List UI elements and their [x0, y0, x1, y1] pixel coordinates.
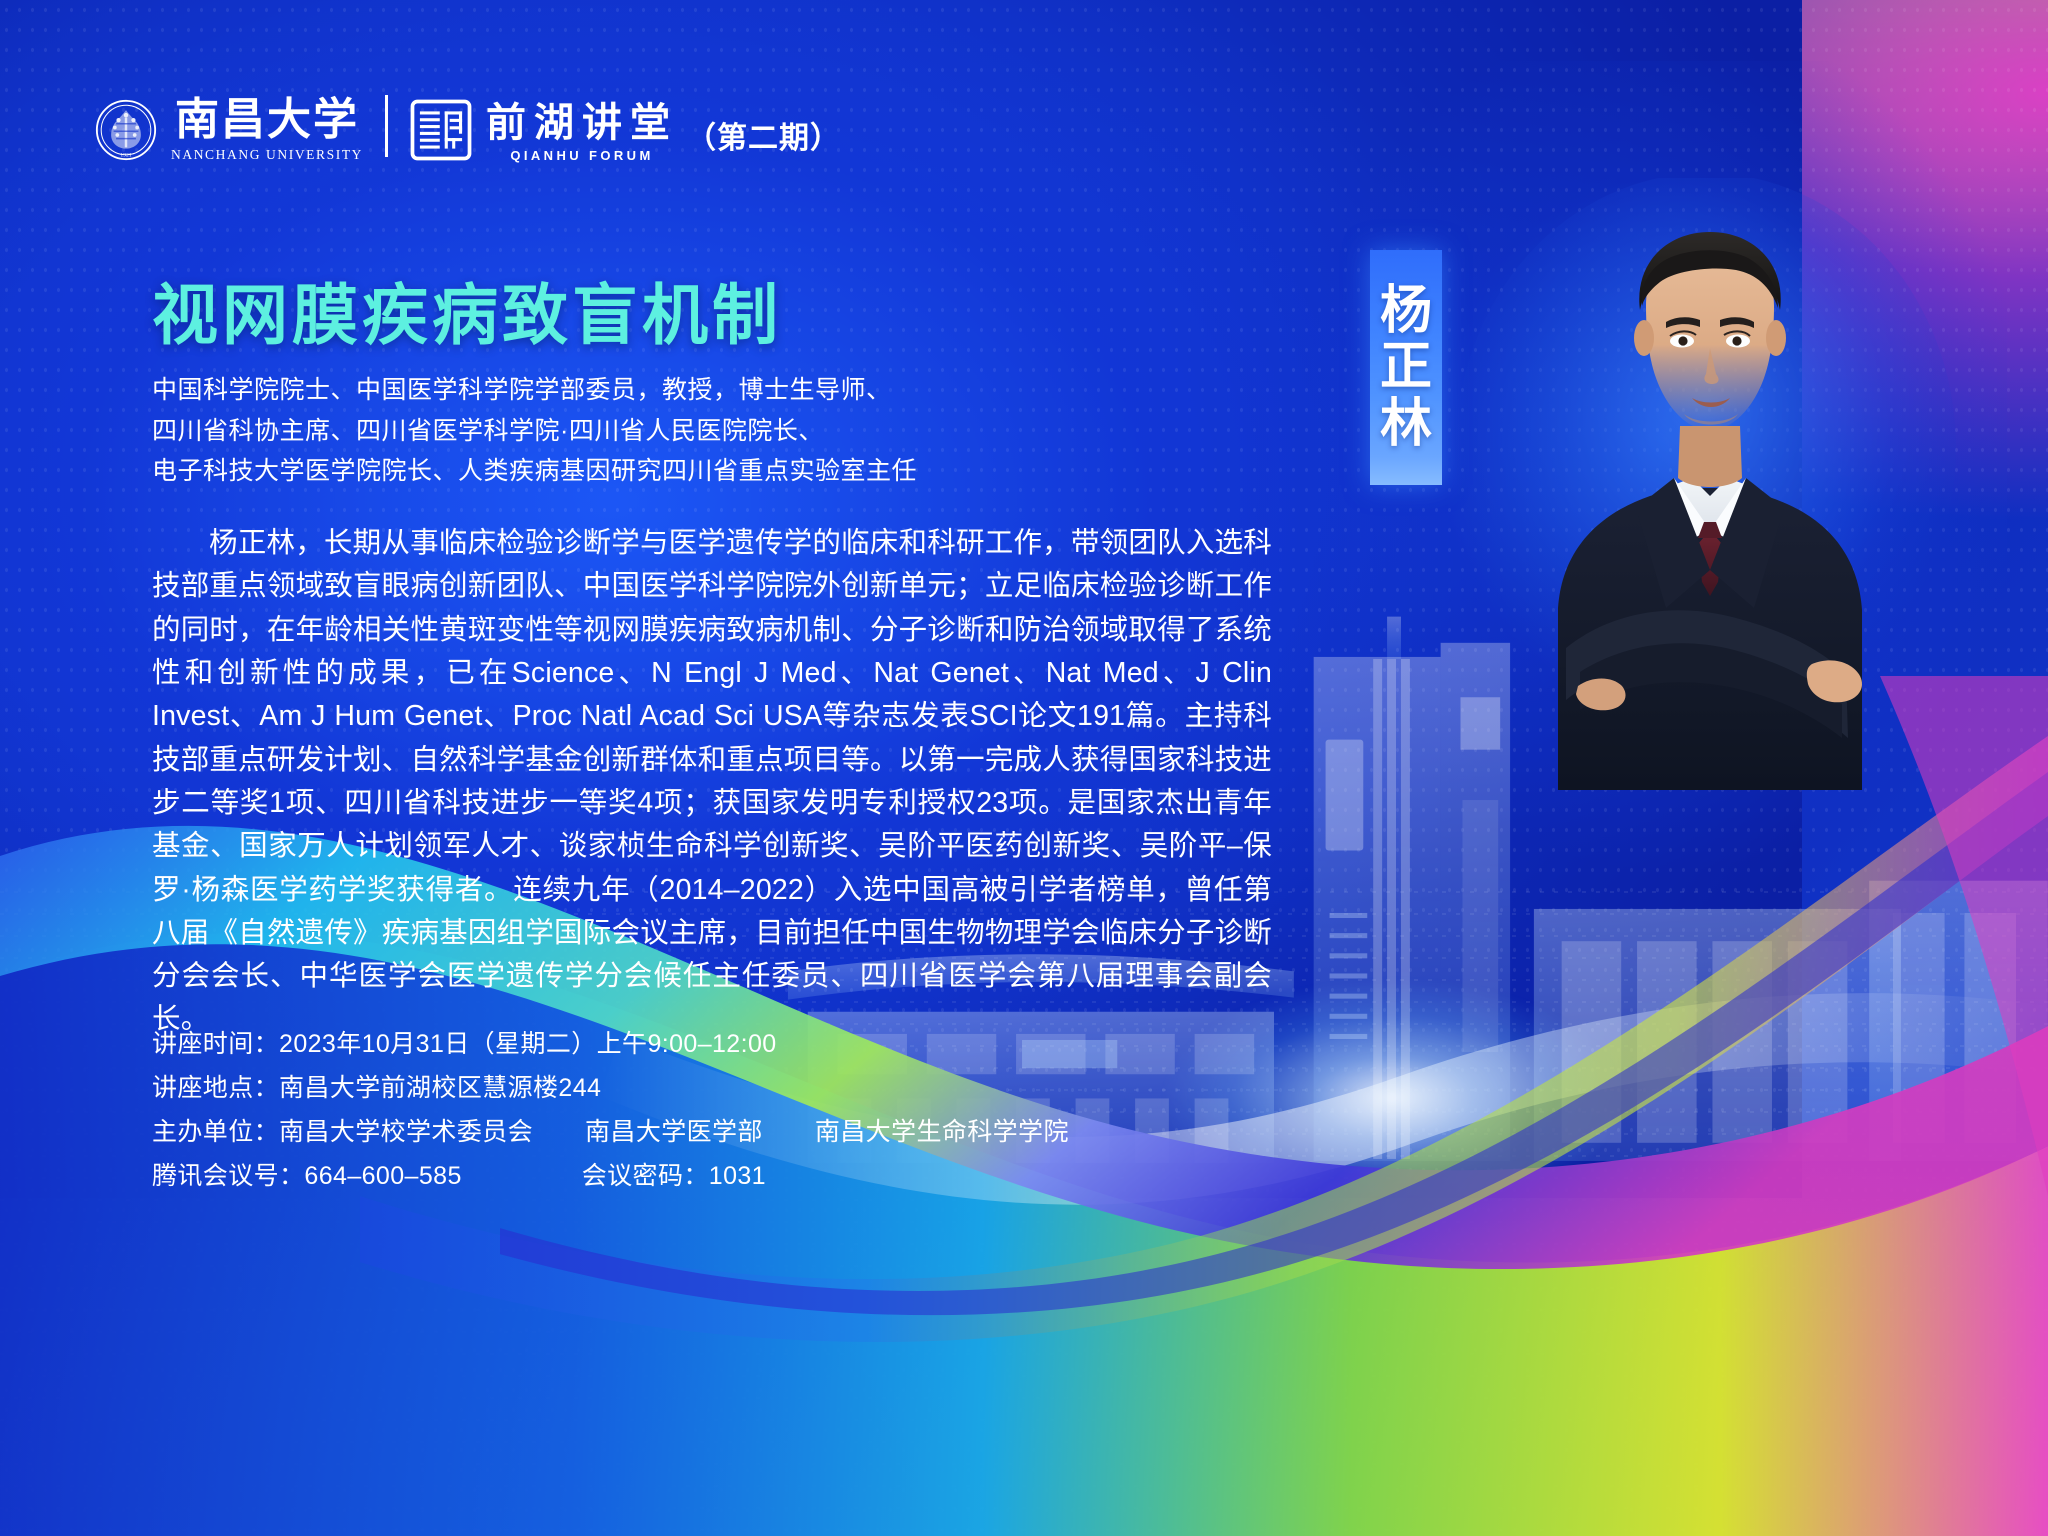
meeting-id-label: 腾讯会议号：	[152, 1162, 304, 1190]
university-name-en: NANCHANG UNIVERSITY	[171, 147, 363, 163]
speaker-credentials: 中国科学院院士、中国医学科学院学部委员，教授，博士生导师、 四川省科协主席、四川…	[152, 370, 917, 492]
svg-text:1921: 1921	[120, 153, 131, 159]
event-time-value: 2023年10月31日（星期二）上午9:00–12:00	[279, 1030, 777, 1058]
speaker-name-char: 杨	[1380, 283, 1432, 339]
meeting-password-value: 1031	[709, 1162, 766, 1190]
forum-name-en: QIANHU FORUM	[510, 148, 653, 163]
poster-canvas: 1921 南昌大学 NANCHANG UNIVERSITY	[0, 0, 2048, 1536]
host-organization: 南昌大学医学部	[585, 1118, 763, 1146]
speaker-name-char: 正	[1380, 339, 1432, 395]
event-time-row: 讲座时间：2023年10月31日（星期二）上午9:00–12:00	[152, 1022, 1069, 1066]
header-divider	[385, 95, 388, 157]
poster-header: 1921 南昌大学 NANCHANG UNIVERSITY	[95, 95, 841, 163]
event-place-row: 讲座地点：南昌大学前湖校区慧源楼244	[152, 1066, 1069, 1110]
page-title: 视网膜疾病致盲机制	[152, 262, 782, 358]
meeting-password-label: 会议密码：	[582, 1162, 709, 1190]
host-organization: 南昌大学校学术委员会	[279, 1118, 533, 1146]
university-wordmark: 南昌大学 NANCHANG UNIVERSITY	[171, 97, 363, 163]
nanchang-university-seal-icon: 1921	[95, 99, 157, 161]
qianhu-forum-seal-icon	[410, 99, 472, 161]
speaker-biography: 杨正林，长期从事临床检验诊断学与医学遗传学的临床和科研工作，带领团队入选科技部重…	[152, 522, 1272, 1042]
credential-line: 四川省科协主席、四川省医学科学院·四川省人民医院院长、	[152, 411, 917, 452]
episode-label: （第二期）	[686, 113, 841, 157]
event-host-row: 主办单位：南昌大学校学术委员会南昌大学医学部南昌大学生命科学学院	[152, 1110, 1069, 1154]
speaker-name-char: 林	[1380, 396, 1432, 452]
event-details: 讲座时间：2023年10月31日（星期二）上午9:00–12:00 讲座地点：南…	[152, 1022, 1069, 1198]
meeting-id-value: 664–600–585	[304, 1162, 461, 1190]
forum-wordmark: 前湖讲堂 QIANHU FORUM	[486, 102, 678, 163]
speaker-portrait	[1428, 178, 1988, 790]
forum-name-cn: 前湖讲堂	[486, 102, 678, 144]
credential-line: 中国科学院院士、中国医学科学院学部委员，教授，博士生导师、	[152, 370, 917, 411]
event-meeting-row: 腾讯会议号：664–600–585会议密码：1031	[152, 1154, 1069, 1198]
event-place-value: 南昌大学前湖校区慧源楼244	[279, 1074, 601, 1102]
event-place-label: 讲座地点：	[152, 1074, 279, 1102]
host-organization: 南昌大学生命科学学院	[815, 1118, 1069, 1146]
credential-line: 电子科技大学医学院院长、人类疾病基因研究四川省重点实验室主任	[152, 451, 917, 492]
event-time-label: 讲座时间：	[152, 1030, 279, 1058]
event-host-label: 主办单位：	[152, 1118, 279, 1146]
university-name-cn: 南昌大学	[175, 97, 359, 144]
